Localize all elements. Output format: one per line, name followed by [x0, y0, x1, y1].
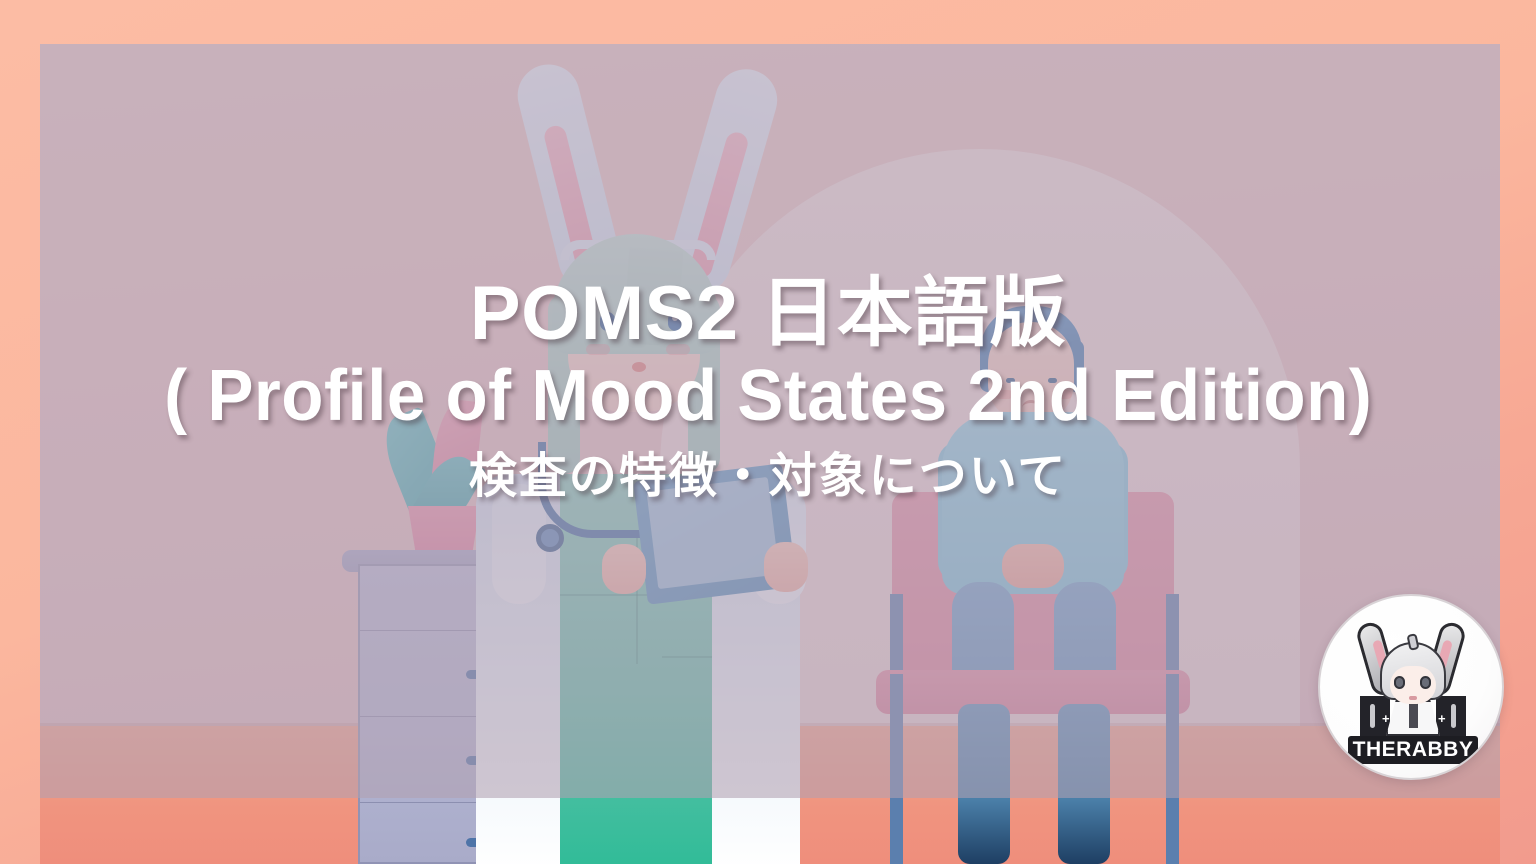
patient-eye: [1006, 378, 1015, 383]
logo-character-mouth: [1409, 696, 1417, 700]
doctor-hand: [602, 544, 646, 594]
patient-blush: [1054, 390, 1072, 399]
chair-leg: [1166, 674, 1179, 864]
stethoscope-chestpiece-icon: [536, 524, 564, 552]
doctor-eye-highlight: [672, 315, 678, 321]
logo-character-eye: [1420, 676, 1431, 689]
patient-eye: [1048, 378, 1057, 383]
chair-seat: [876, 670, 1190, 714]
therabby-logo-badge[interactable]: + + THERABBY: [1318, 594, 1504, 780]
logo-plus-icon: +: [1438, 712, 1446, 725]
chair-leg: [890, 674, 903, 864]
logo-necktie: [1409, 702, 1418, 728]
doctor-blush: [586, 344, 610, 355]
doctor-blush: [666, 344, 690, 355]
logo-hair-tuft: [1406, 633, 1419, 651]
patient-clasped-hands: [1002, 544, 1064, 588]
logo-artwork: + + THERABBY: [1320, 596, 1502, 778]
doctor-hand: [764, 542, 808, 592]
logo-tick-mark: [1451, 704, 1456, 728]
patient-leg: [1058, 704, 1110, 864]
doctor-eye-highlight: [604, 315, 610, 321]
patient-blush: [995, 390, 1013, 399]
logo-tick-mark: [1370, 704, 1375, 728]
poms2-thumbnail-card: POMS2 日本語版 ( Profile of Mood States 2nd …: [0, 0, 1536, 864]
logo-plus-icon: +: [1382, 712, 1390, 725]
patient-leg: [958, 704, 1010, 864]
logo-brand-text: THERABBY: [1353, 738, 1474, 762]
doctor-mouth: [632, 362, 646, 372]
clipboard-page: [646, 477, 779, 589]
logo-name-banner: THERABBY: [1348, 736, 1478, 764]
logo-character-eye: [1394, 676, 1405, 689]
illustration-canvas: [40, 44, 1500, 864]
